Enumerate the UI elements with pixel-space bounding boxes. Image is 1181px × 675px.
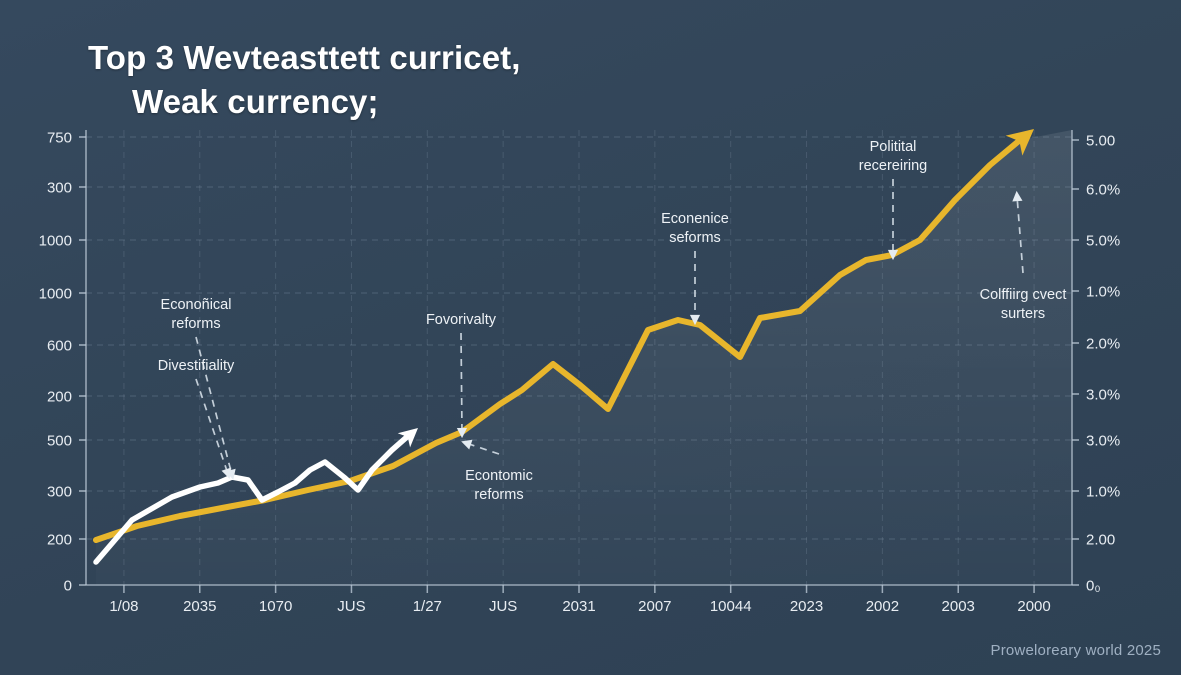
y-axis-label-right: 2.00 [1086,532,1115,549]
y-axis-label-right: 2.0% [1086,336,1120,353]
x-axis-label: 1/08 [109,598,138,615]
y-axis-label-left: 300 [47,180,72,197]
y-axis-label-left: 300 [47,484,72,501]
annotation-text: reforms [171,316,220,332]
y-axis-label-left: 600 [47,338,72,355]
x-axis-label: JUS [337,598,365,615]
x-axis-label: 1070 [259,598,292,615]
x-axis-label: 2031 [562,598,595,615]
series-area-fill [96,130,1072,585]
y-axis-label-right: 1.0% [1086,484,1120,501]
x-axis-label: 2023 [790,598,823,615]
annotation-text: Divestifiality [158,358,235,374]
footer-credit: Proweloreary world 2025 [990,642,1161,659]
y-axis-label-left: 1000 [39,233,72,250]
annotation-text: Fovorivalty [426,312,497,328]
annotation-text: Colffiirg cvect [980,287,1067,303]
annotation-text: surters [1001,306,1045,322]
annotation-text: Econoñical [161,297,232,313]
annotation-leader-line [461,333,462,433]
y-axis-label-left: 200 [47,389,72,406]
x-axis-label: 2007 [638,598,671,615]
annotation-text: Econtomic [465,468,533,484]
y-axis-label-right: 1.0% [1086,284,1120,301]
x-axis-label: 1/27 [413,598,442,615]
x-axis-label: 10044 [710,598,752,615]
annotation-economical-reforms: Econoñicalreforms [161,297,232,475]
annotation-text: seforms [669,230,721,246]
x-axis-label: 2002 [866,598,899,615]
x-axis-label: 2035 [183,598,216,615]
annotation-leader-line [196,379,228,474]
area-fill-layer [96,130,1072,585]
x-axis-label: JUS [489,598,517,615]
annotation-divestifiality: Divestifiality [158,358,235,474]
y-axis-label-left: 500 [47,433,72,450]
y-axis-label-right: 5.00 [1086,133,1115,150]
annotation-text: reforms [474,487,523,503]
annotation-econenice-seforms: Econeniceseforms [661,211,729,320]
annotation-text: recereiring [859,158,928,174]
annotation-text: Politital [870,139,917,155]
line-chart-svg: 7503001000100060020050030020005.006.0%5.… [0,0,1181,675]
annotation-text: Econenice [661,211,729,227]
y-axis-label-right: 0₀ [1086,578,1101,595]
y-axis-label-right: 3.0% [1086,387,1120,404]
y-axis-label-left: 750 [47,130,72,147]
y-axis-label-left: 0 [64,578,72,595]
y-axis-label-right: 6.0% [1086,182,1120,199]
y-axis-label-right: 3.0% [1086,433,1120,450]
x-axis-label: 2003 [942,598,975,615]
x-axis-label: 2000 [1017,598,1050,615]
chart-canvas: Top 3 Wevteasttett curricet, Weak curren… [0,0,1181,675]
y-axis-label-left: 200 [47,532,72,549]
y-axis-label-right: 5.0% [1086,233,1120,250]
annotation-politital-recereiring: Polititalrecereiring [859,139,928,255]
y-axis-label-left: 1000 [39,286,72,303]
